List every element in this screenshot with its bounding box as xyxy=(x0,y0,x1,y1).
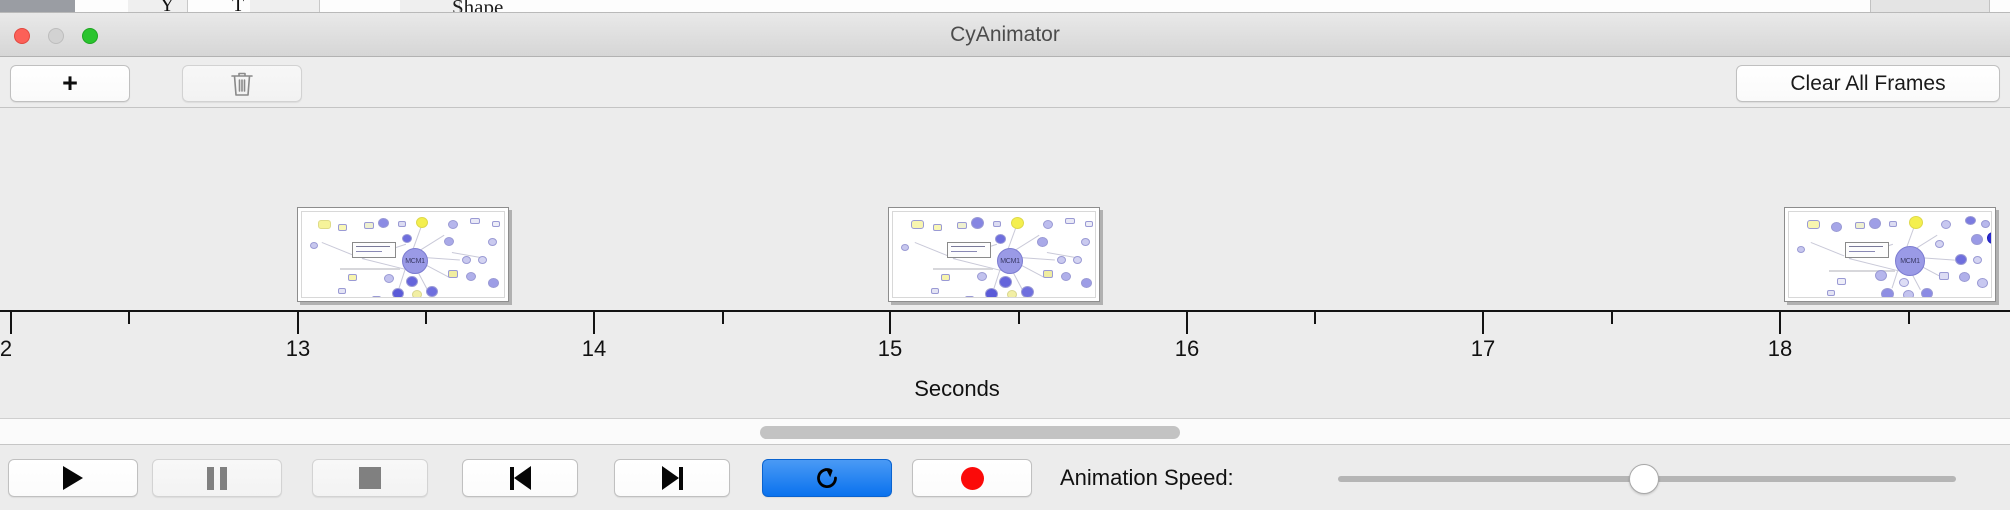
delete-frame-button[interactable] xyxy=(182,65,302,102)
axis-tick-minor xyxy=(1611,312,1613,324)
axis-label-18: 18 xyxy=(1768,336,1792,362)
axis-tick-major xyxy=(10,312,12,334)
axis-tick-major xyxy=(889,312,891,334)
axis-label-17: 17 xyxy=(1471,336,1495,362)
stop-icon xyxy=(359,467,381,489)
timeline-axis xyxy=(0,310,2010,312)
clear-all-frames-button[interactable]: Clear All Frames xyxy=(1736,65,2000,102)
timeline-scrollbar[interactable] xyxy=(0,419,2010,445)
background-tab xyxy=(250,0,320,13)
frame-tooltip xyxy=(1845,242,1889,258)
loop-button[interactable] xyxy=(762,459,892,497)
hub-node-label: MCM1 xyxy=(997,248,1023,274)
title-bar: CyAnimator xyxy=(0,13,2010,57)
axis-tick-minor xyxy=(1314,312,1316,324)
toolbar: + Clear All Frames xyxy=(0,57,2010,108)
background-tab xyxy=(400,0,460,13)
axis-title: Seconds xyxy=(0,376,2010,402)
trash-icon xyxy=(229,70,255,98)
animation-speed-slider[interactable] xyxy=(1338,476,1956,482)
pause-icon xyxy=(207,467,227,490)
background-window-label: Shape xyxy=(452,0,503,13)
background-tab xyxy=(128,0,188,13)
axis-label-12: 2 xyxy=(0,336,12,362)
axis-tick-major xyxy=(1482,312,1484,334)
slider-thumb[interactable] xyxy=(1629,464,1659,494)
axis-title-text: Seconds xyxy=(914,376,1000,402)
transport-bar: Animation Speed: xyxy=(0,446,2010,510)
axis-tick-major xyxy=(593,312,595,334)
stop-button[interactable] xyxy=(312,459,428,497)
hub-node-label: MCM1 xyxy=(1895,246,1925,276)
axis-tick-major xyxy=(1779,312,1781,334)
skip-to-end-icon xyxy=(662,466,683,490)
background-glyph: Y xyxy=(160,0,174,13)
axis-tick-major xyxy=(297,312,299,334)
skip-to-end-button[interactable] xyxy=(614,459,730,497)
record-icon xyxy=(961,467,984,490)
axis-tick-minor xyxy=(1018,312,1020,324)
pause-button[interactable] xyxy=(152,459,282,497)
axis-tick-minor xyxy=(722,312,724,324)
scrollbar-thumb[interactable] xyxy=(760,426,1180,439)
axis-label-15: 15 xyxy=(878,336,902,362)
timeline-frame-2[interactable]: MCM1 xyxy=(888,207,1100,302)
frame-tooltip xyxy=(947,242,991,258)
cyanimator-window: Y T Shape CyAnimator + Clear All Frames xyxy=(0,0,2010,510)
animation-speed-label: Animation Speed: xyxy=(1060,459,1234,497)
axis-label-13: 13 xyxy=(286,336,310,362)
axis-tick-major xyxy=(1186,312,1188,334)
frame-thumbnail: MCM1 xyxy=(1788,211,1992,298)
background-glyph: T xyxy=(232,0,244,13)
hub-node-label: MCM1 xyxy=(402,248,428,274)
play-button[interactable] xyxy=(8,459,138,497)
background-window-strip: Y T Shape xyxy=(0,0,2010,13)
axis-tick-minor xyxy=(425,312,427,324)
timeline-frame-3[interactable]: MCM1 xyxy=(1784,207,1996,302)
axis-tick-minor xyxy=(128,312,130,324)
skip-to-start-button[interactable] xyxy=(462,459,578,497)
axis-label-14: 14 xyxy=(582,336,606,362)
axis-tick-minor xyxy=(1908,312,1910,324)
background-dark-panel xyxy=(0,0,75,13)
record-button[interactable] xyxy=(912,459,1032,497)
play-icon xyxy=(63,466,83,490)
frame-tooltip xyxy=(352,242,396,258)
timeline-frame-1[interactable]: MCM1 xyxy=(297,207,509,302)
clear-all-frames-label: Clear All Frames xyxy=(1790,72,1945,96)
skip-to-start-icon xyxy=(510,466,531,490)
add-frame-button[interactable]: + xyxy=(10,65,130,102)
timeline-panel[interactable]: MCM1 xyxy=(0,108,2010,419)
background-right-panel xyxy=(1870,0,1990,12)
window-title: CyAnimator xyxy=(0,13,2010,57)
axis-label-16: 16 xyxy=(1175,336,1199,362)
frame-thumbnail: MCM1 xyxy=(301,211,505,298)
plus-icon: + xyxy=(62,70,78,97)
loop-icon xyxy=(812,463,842,493)
frame-thumbnail: MCM1 xyxy=(892,211,1096,298)
